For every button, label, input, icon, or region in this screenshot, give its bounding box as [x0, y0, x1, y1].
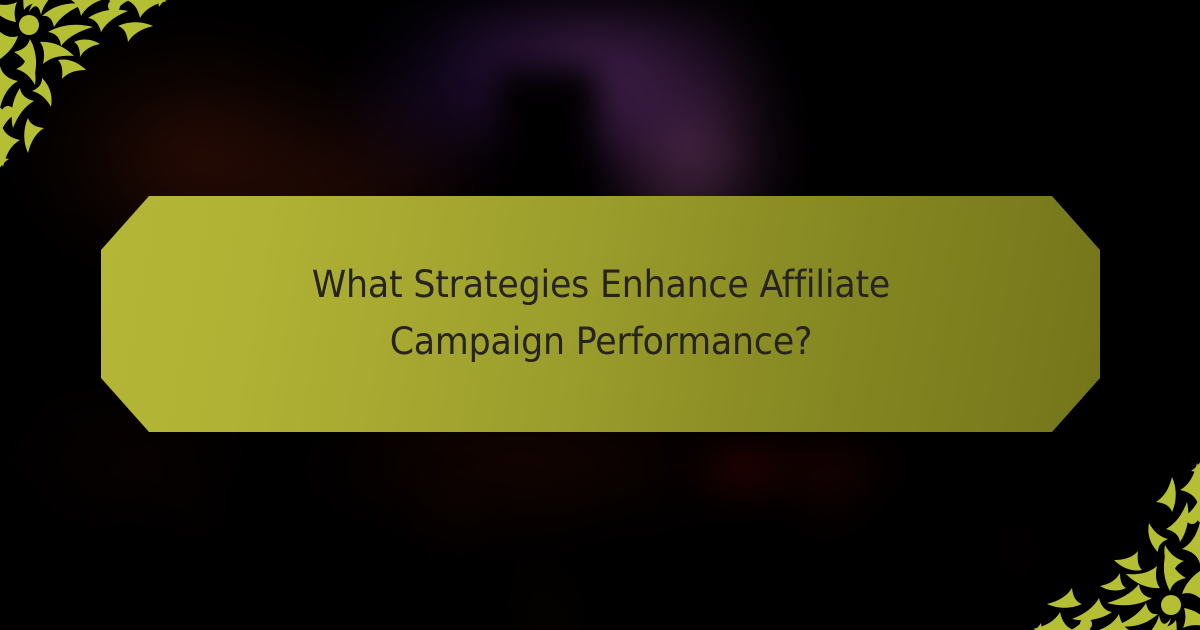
title-banner: What Strategies Enhance Affiliate Campai…	[101, 196, 1100, 432]
share-card-canvas: What Strategies Enhance Affiliate Campai…	[0, 0, 1200, 630]
floral-corner-ornament-bottom-right-icon	[1014, 446, 1200, 630]
floral-corner-ornament-top-left-icon	[0, 0, 186, 184]
page-title: What Strategies Enhance Affiliate Campai…	[183, 257, 1018, 371]
